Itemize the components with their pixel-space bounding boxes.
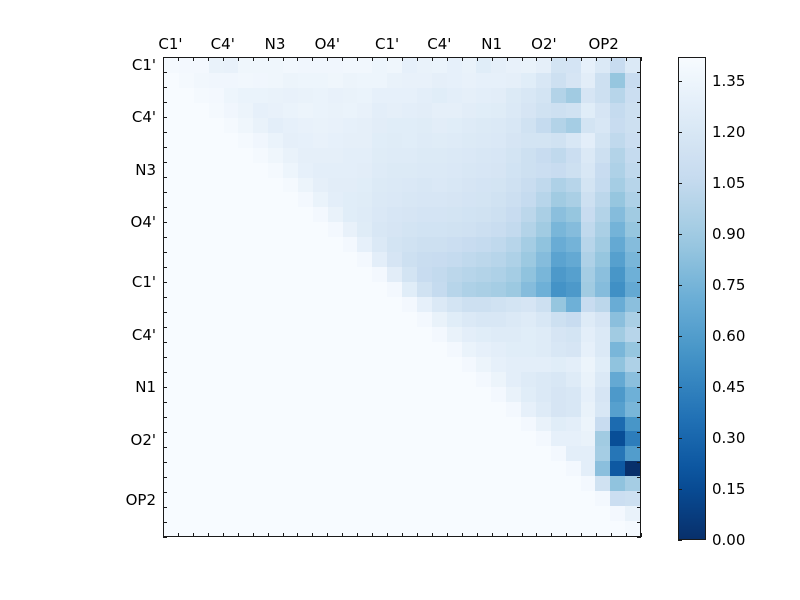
heatmap-cell (447, 417, 462, 432)
x-tick-top (357, 57, 358, 61)
heatmap-cell (387, 297, 402, 312)
y-tick-left (163, 492, 167, 493)
heatmap-cell (536, 297, 551, 312)
heatmap-cell (610, 58, 625, 73)
colorbar-tick (678, 285, 682, 286)
heatmap-cell (521, 431, 536, 446)
heatmap-cell (253, 88, 268, 103)
heatmap-cell (179, 342, 194, 357)
heatmap-cell (224, 88, 239, 103)
heatmap-cell (551, 133, 566, 148)
x-tick-bottom (402, 533, 403, 537)
heatmap-cell (402, 476, 417, 491)
heatmap-cell (462, 148, 477, 163)
heatmap-cell (625, 118, 640, 133)
heatmap-cell (476, 88, 491, 103)
x-tick-bottom (581, 533, 582, 537)
heatmap-cell (625, 461, 640, 476)
heatmap-cell (417, 461, 432, 476)
heatmap-cell (551, 73, 566, 88)
heatmap-cell (238, 357, 253, 372)
heatmap-cell (491, 387, 506, 402)
heatmap-cell (476, 446, 491, 461)
heatmap-cell (417, 163, 432, 178)
heatmap-cell (491, 178, 506, 193)
x-tick-bottom (357, 533, 358, 537)
heatmap-cell (387, 192, 402, 207)
heatmap-cell (566, 297, 581, 312)
heatmap-cell (164, 73, 179, 88)
heatmap-cell (283, 103, 298, 118)
heatmap-cell (476, 297, 491, 312)
heatmap-cell (238, 192, 253, 207)
heatmap-cell (343, 163, 358, 178)
heatmap-cell (298, 342, 313, 357)
heatmap-cell (298, 58, 313, 73)
heatmap-cell (179, 148, 194, 163)
heatmap-cell (447, 312, 462, 327)
heatmap-cell (625, 163, 640, 178)
heatmap-cell (194, 417, 209, 432)
heatmap-cell (343, 222, 358, 237)
heatmap-cell (164, 148, 179, 163)
x-tick-top (372, 57, 373, 61)
heatmap-cell (625, 267, 640, 282)
y-tick-right (637, 492, 641, 493)
heatmap-cell (551, 387, 566, 402)
heatmap-cell (253, 431, 268, 446)
heatmap-cell (402, 431, 417, 446)
x-tick-bottom (387, 533, 388, 537)
heatmap-cell (476, 222, 491, 237)
heatmap-cell (536, 192, 551, 207)
heatmap-cell (224, 387, 239, 402)
heatmap-cell (283, 58, 298, 73)
heatmap-cell (402, 103, 417, 118)
heatmap-cell (447, 252, 462, 267)
heatmap-cell (551, 506, 566, 521)
heatmap-cell (462, 431, 477, 446)
heatmap-cell (357, 178, 372, 193)
colorbar-tick-label: 1.35 (712, 72, 745, 90)
y-tick-label: N3 (135, 161, 156, 179)
heatmap-cell (194, 312, 209, 327)
heatmap-cell (298, 282, 313, 297)
heatmap-cell (521, 178, 536, 193)
heatmap-cell (209, 342, 224, 357)
x-tick-top (193, 57, 194, 61)
heatmap-cell (328, 402, 343, 417)
heatmap-cell (224, 163, 239, 178)
heatmap-cell (253, 267, 268, 282)
heatmap-cell (343, 88, 358, 103)
heatmap-cell (417, 282, 432, 297)
heatmap-cell (298, 163, 313, 178)
heatmap-cell (224, 222, 239, 237)
x-tick-bottom (507, 533, 508, 537)
heatmap-cell (610, 342, 625, 357)
heatmap-cell (566, 58, 581, 73)
heatmap-cell (164, 133, 179, 148)
x-tick-top (626, 57, 627, 61)
heatmap-cell (387, 461, 402, 476)
heatmap-cell (343, 417, 358, 432)
y-tick-left (163, 192, 167, 193)
y-tick-label: OP2 (126, 491, 156, 509)
heatmap-cell (253, 491, 268, 506)
heatmap-cell (432, 163, 447, 178)
heatmap-cell (253, 521, 268, 536)
heatmap-cell (343, 297, 358, 312)
x-tick-label: C4' (427, 35, 451, 53)
heatmap-cell (566, 342, 581, 357)
heatmap-axes[interactable] (163, 57, 641, 537)
heatmap-cell (268, 387, 283, 402)
heatmap-cell (194, 237, 209, 252)
heatmap-cell (521, 461, 536, 476)
heatmap-cell (417, 327, 432, 342)
x-tick-label: C4' (211, 35, 235, 53)
heatmap-cell (357, 237, 372, 252)
heatmap-cell (595, 387, 610, 402)
heatmap-cell (566, 118, 581, 133)
heatmap-cell (224, 267, 239, 282)
heatmap-cell (447, 461, 462, 476)
heatmap-cell (372, 342, 387, 357)
heatmap-cell (521, 237, 536, 252)
heatmap-cell (476, 431, 491, 446)
heatmap-cell (462, 207, 477, 222)
heatmap-cell (328, 103, 343, 118)
y-tick-left (163, 387, 167, 388)
heatmap-cell (491, 148, 506, 163)
heatmap-cell (476, 103, 491, 118)
heatmap-cell (491, 327, 506, 342)
heatmap-cell (551, 103, 566, 118)
y-tick-left (163, 402, 167, 403)
heatmap-cell (238, 312, 253, 327)
heatmap-cell (476, 506, 491, 521)
heatmap-cell (462, 476, 477, 491)
heatmap-cell (298, 88, 313, 103)
y-tick-right (637, 312, 641, 313)
heatmap-cell (536, 267, 551, 282)
heatmap-cell (328, 192, 343, 207)
y-tick-left (163, 507, 167, 508)
heatmap-cell (566, 521, 581, 536)
x-tick-top (417, 57, 418, 61)
heatmap-cell (581, 297, 596, 312)
heatmap-cell (372, 207, 387, 222)
heatmap-cell (417, 357, 432, 372)
colorbar-tick (678, 183, 682, 184)
x-tick-bottom (268, 533, 269, 537)
heatmap-cell (595, 267, 610, 282)
heatmap-cell (238, 237, 253, 252)
heatmap-cell (432, 133, 447, 148)
y-tick-left (163, 87, 167, 88)
heatmap-cell (566, 327, 581, 342)
heatmap-cell (432, 222, 447, 237)
heatmap-cell (506, 88, 521, 103)
heatmap-cell (566, 178, 581, 193)
heatmap-cell (164, 476, 179, 491)
heatmap-cell (238, 521, 253, 536)
heatmap-cell (387, 446, 402, 461)
heatmap-cell (343, 267, 358, 282)
heatmap-cell (179, 446, 194, 461)
heatmap-cell (283, 476, 298, 491)
y-tick-label: O4' (131, 213, 156, 231)
heatmap-cell (298, 207, 313, 222)
heatmap-cell (283, 237, 298, 252)
heatmap-cell (372, 267, 387, 282)
colorbar-tick (678, 489, 682, 490)
heatmap-cell (268, 372, 283, 387)
heatmap-cell (551, 192, 566, 207)
heatmap-cell (491, 73, 506, 88)
heatmap-cell (298, 402, 313, 417)
y-tick-label: C1' (132, 273, 156, 291)
heatmap-cell (536, 372, 551, 387)
heatmap-cell (268, 58, 283, 73)
colorbar-tick (678, 336, 682, 337)
heatmap-cell (491, 222, 506, 237)
heatmap-cell (343, 192, 358, 207)
heatmap-cell (238, 58, 253, 73)
heatmap-cell (328, 222, 343, 237)
heatmap-cell (387, 491, 402, 506)
heatmap-cell (402, 207, 417, 222)
heatmap-cell (581, 372, 596, 387)
heatmap-cell (566, 148, 581, 163)
heatmap-cell (536, 252, 551, 267)
heatmap-cell (402, 133, 417, 148)
heatmap-cell (462, 222, 477, 237)
heatmap-cell (164, 252, 179, 267)
heatmap-cell (491, 521, 506, 536)
heatmap-cell (357, 491, 372, 506)
heatmap-cell (164, 431, 179, 446)
heatmap-cell (179, 297, 194, 312)
heatmap-cell (462, 73, 477, 88)
heatmap-cell (343, 207, 358, 222)
heatmap-cell (224, 402, 239, 417)
heatmap-cell (506, 342, 521, 357)
heatmap-cell (238, 178, 253, 193)
heatmap-cell (610, 402, 625, 417)
heatmap-cell (357, 88, 372, 103)
heatmap-cell (506, 297, 521, 312)
heatmap-cell (224, 476, 239, 491)
heatmap-cell (417, 312, 432, 327)
heatmap-cell (432, 312, 447, 327)
heatmap-cell (387, 118, 402, 133)
x-tick-top (327, 57, 328, 61)
x-tick-top (611, 57, 612, 61)
heatmap-cell (536, 88, 551, 103)
heatmap-cell (491, 402, 506, 417)
heatmap-cell (432, 73, 447, 88)
heatmap-cell (536, 118, 551, 133)
heatmap-cell (253, 103, 268, 118)
heatmap-cell (179, 431, 194, 446)
heatmap-cell (551, 461, 566, 476)
heatmap-cell (581, 431, 596, 446)
heatmap-cell (402, 192, 417, 207)
heatmap-cell (625, 178, 640, 193)
heatmap-cell (447, 387, 462, 402)
heatmap-cell (595, 476, 610, 491)
heatmap-cell (566, 267, 581, 282)
x-tick-bottom (626, 533, 627, 537)
x-tick-label: C1' (158, 35, 182, 53)
heatmap-cell (253, 402, 268, 417)
y-tick-left (163, 537, 167, 538)
heatmap-cell (566, 357, 581, 372)
heatmap-cell (625, 207, 640, 222)
heatmap-cell (595, 133, 610, 148)
heatmap-cell (566, 506, 581, 521)
heatmap-cell (566, 88, 581, 103)
heatmap-cell (462, 461, 477, 476)
heatmap-cell (313, 207, 328, 222)
heatmap-cell (610, 192, 625, 207)
heatmap-cell (313, 402, 328, 417)
heatmap-cell (298, 267, 313, 282)
heatmap-cell (402, 222, 417, 237)
heatmap-cell (551, 88, 566, 103)
heatmap-cell (506, 163, 521, 178)
heatmap-cell (164, 327, 179, 342)
heatmap-cell (357, 357, 372, 372)
heatmap-cell (417, 192, 432, 207)
heatmap-cell (521, 357, 536, 372)
y-tick-left (163, 177, 167, 178)
heatmap-cell (506, 417, 521, 432)
heatmap-cell (372, 372, 387, 387)
heatmap-cell (566, 312, 581, 327)
heatmap-cell (551, 327, 566, 342)
heatmap-cell (536, 327, 551, 342)
heatmap-cell (447, 357, 462, 372)
heatmap-cell (179, 73, 194, 88)
heatmap-cell (595, 207, 610, 222)
heatmap-cell (224, 312, 239, 327)
heatmap-cell (313, 267, 328, 282)
heatmap-cell (402, 342, 417, 357)
heatmap-cell (313, 88, 328, 103)
heatmap-cell (521, 506, 536, 521)
heatmap-cell (432, 476, 447, 491)
heatmap-cell (209, 73, 224, 88)
y-tick-right (637, 462, 641, 463)
heatmap-cell (521, 222, 536, 237)
heatmap-cell (372, 446, 387, 461)
heatmap-cell (521, 282, 536, 297)
x-tick-bottom (223, 533, 224, 537)
heatmap-cell (402, 461, 417, 476)
heatmap-cell (357, 133, 372, 148)
heatmap-cell (387, 342, 402, 357)
heatmap-cell (447, 103, 462, 118)
y-tick-left (163, 417, 167, 418)
heatmap-cell (253, 207, 268, 222)
heatmap-cell (328, 267, 343, 282)
heatmap-cell (402, 446, 417, 461)
y-tick-right (637, 237, 641, 238)
heatmap-cell (179, 133, 194, 148)
heatmap-cell (476, 207, 491, 222)
x-tick-bottom (611, 533, 612, 537)
heatmap-cell (521, 476, 536, 491)
heatmap-cell (357, 446, 372, 461)
heatmap-cell (595, 402, 610, 417)
heatmap-cell (372, 387, 387, 402)
heatmap-cell (179, 312, 194, 327)
heatmap-cell (462, 506, 477, 521)
heatmap-cell (625, 431, 640, 446)
heatmap-cell (566, 237, 581, 252)
heatmap-cell (209, 163, 224, 178)
y-tick-right (637, 447, 641, 448)
heatmap-cell (506, 476, 521, 491)
heatmap-cell (387, 178, 402, 193)
heatmap-cell (372, 118, 387, 133)
heatmap-cell (417, 431, 432, 446)
heatmap-cell (343, 387, 358, 402)
heatmap-cell (387, 521, 402, 536)
y-tick-right (637, 372, 641, 373)
heatmap-cell (581, 342, 596, 357)
heatmap-cell (268, 297, 283, 312)
heatmap-cell (521, 133, 536, 148)
heatmap-cell (179, 491, 194, 506)
heatmap-cell (387, 387, 402, 402)
heatmap-cell (432, 461, 447, 476)
heatmap-cell (595, 58, 610, 73)
colorbar[interactable] (678, 57, 706, 540)
heatmap-cell (581, 506, 596, 521)
heatmap-cell (238, 461, 253, 476)
heatmap-cell (402, 178, 417, 193)
heatmap-cell (432, 491, 447, 506)
x-tick-bottom (522, 533, 523, 537)
heatmap-cell (343, 312, 358, 327)
heatmap-cell (387, 207, 402, 222)
heatmap-cell (253, 297, 268, 312)
heatmap-cell (238, 222, 253, 237)
y-tick-right (637, 522, 641, 523)
heatmap-cell (417, 133, 432, 148)
heatmap-cell (357, 476, 372, 491)
heatmap-cell (595, 163, 610, 178)
heatmap-cell (581, 207, 596, 222)
heatmap-cell (566, 402, 581, 417)
heatmap-cell (209, 267, 224, 282)
x-tick-bottom (312, 533, 313, 537)
heatmap-cell (164, 387, 179, 402)
heatmap-cell (506, 506, 521, 521)
heatmap-cell (283, 73, 298, 88)
heatmap-cell (253, 192, 268, 207)
heatmap-cell (625, 192, 640, 207)
heatmap-cell (328, 178, 343, 193)
heatmap-cell (268, 506, 283, 521)
heatmap-cell (179, 327, 194, 342)
heatmap-cell (417, 521, 432, 536)
heatmap-cell (581, 417, 596, 432)
